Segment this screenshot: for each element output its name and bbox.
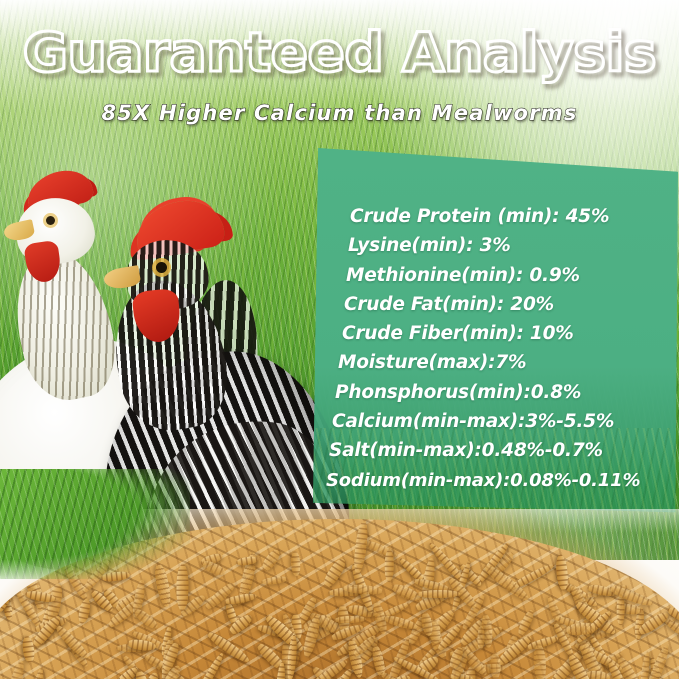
page-subtitle: 85X Higher Calcium than Mealworms xyxy=(101,98,577,128)
nutrition-row: Methionine(min): 0.9% xyxy=(318,261,670,290)
white-hen-eye xyxy=(46,216,55,225)
nutrition-row: Phonsphorus(min):0.8% xyxy=(318,378,670,407)
mealworm xyxy=(382,613,419,631)
page-title: Guaranteed Analysis xyxy=(23,22,656,84)
nutrition-row: Crude Protein (min): 45% xyxy=(318,202,670,231)
mealworm xyxy=(205,629,252,666)
mealworm xyxy=(352,520,370,575)
nutrition-row: Lysine(min): 3% xyxy=(318,231,670,260)
mealworm xyxy=(516,608,537,638)
mealworm xyxy=(334,615,366,623)
nutrition-row: Moisture(max):7% xyxy=(318,348,670,377)
mealworm xyxy=(490,652,501,679)
mealworm xyxy=(477,626,485,651)
mealworm xyxy=(3,659,27,679)
guaranteed-analysis-panel: Crude Protein (min): 45% Lysine(min): 3%… xyxy=(310,140,678,518)
subtitle-area: 85X Higher Calcium than Mealworms xyxy=(0,98,679,132)
mealworm xyxy=(77,597,92,624)
product-infographic: Guaranteed Analysis 85X Higher Calcium t… xyxy=(0,0,679,679)
barred-hen-eye xyxy=(156,262,167,273)
title-area: Guaranteed Analysis xyxy=(0,22,679,92)
mealworm xyxy=(259,548,282,574)
nutrition-row: Salt(min-max):0.48%-0.7% xyxy=(318,436,670,465)
mealworm xyxy=(617,594,625,625)
mealworm xyxy=(53,623,90,661)
mealworm xyxy=(649,571,669,595)
mealworm xyxy=(533,644,547,679)
grass-bottom-left-corner xyxy=(0,469,190,579)
mealworm xyxy=(192,652,225,679)
mealworm xyxy=(28,667,47,679)
nutrition-row: Crude Fiber(min): 10% xyxy=(318,319,670,348)
mealworm xyxy=(290,550,301,576)
mealworm xyxy=(555,554,569,591)
nutrition-list: Crude Protein (min): 45% Lysine(min): 3%… xyxy=(310,140,678,518)
nutrition-row: Calcium(min-max):3%-5.5% xyxy=(318,407,670,436)
nutrition-row: Sodium(min-max):0.08%-0.11% xyxy=(318,466,670,495)
nutrition-row: Crude Fat(min): 20% xyxy=(318,290,670,319)
mealworm xyxy=(420,611,434,636)
mealworm xyxy=(261,575,288,586)
